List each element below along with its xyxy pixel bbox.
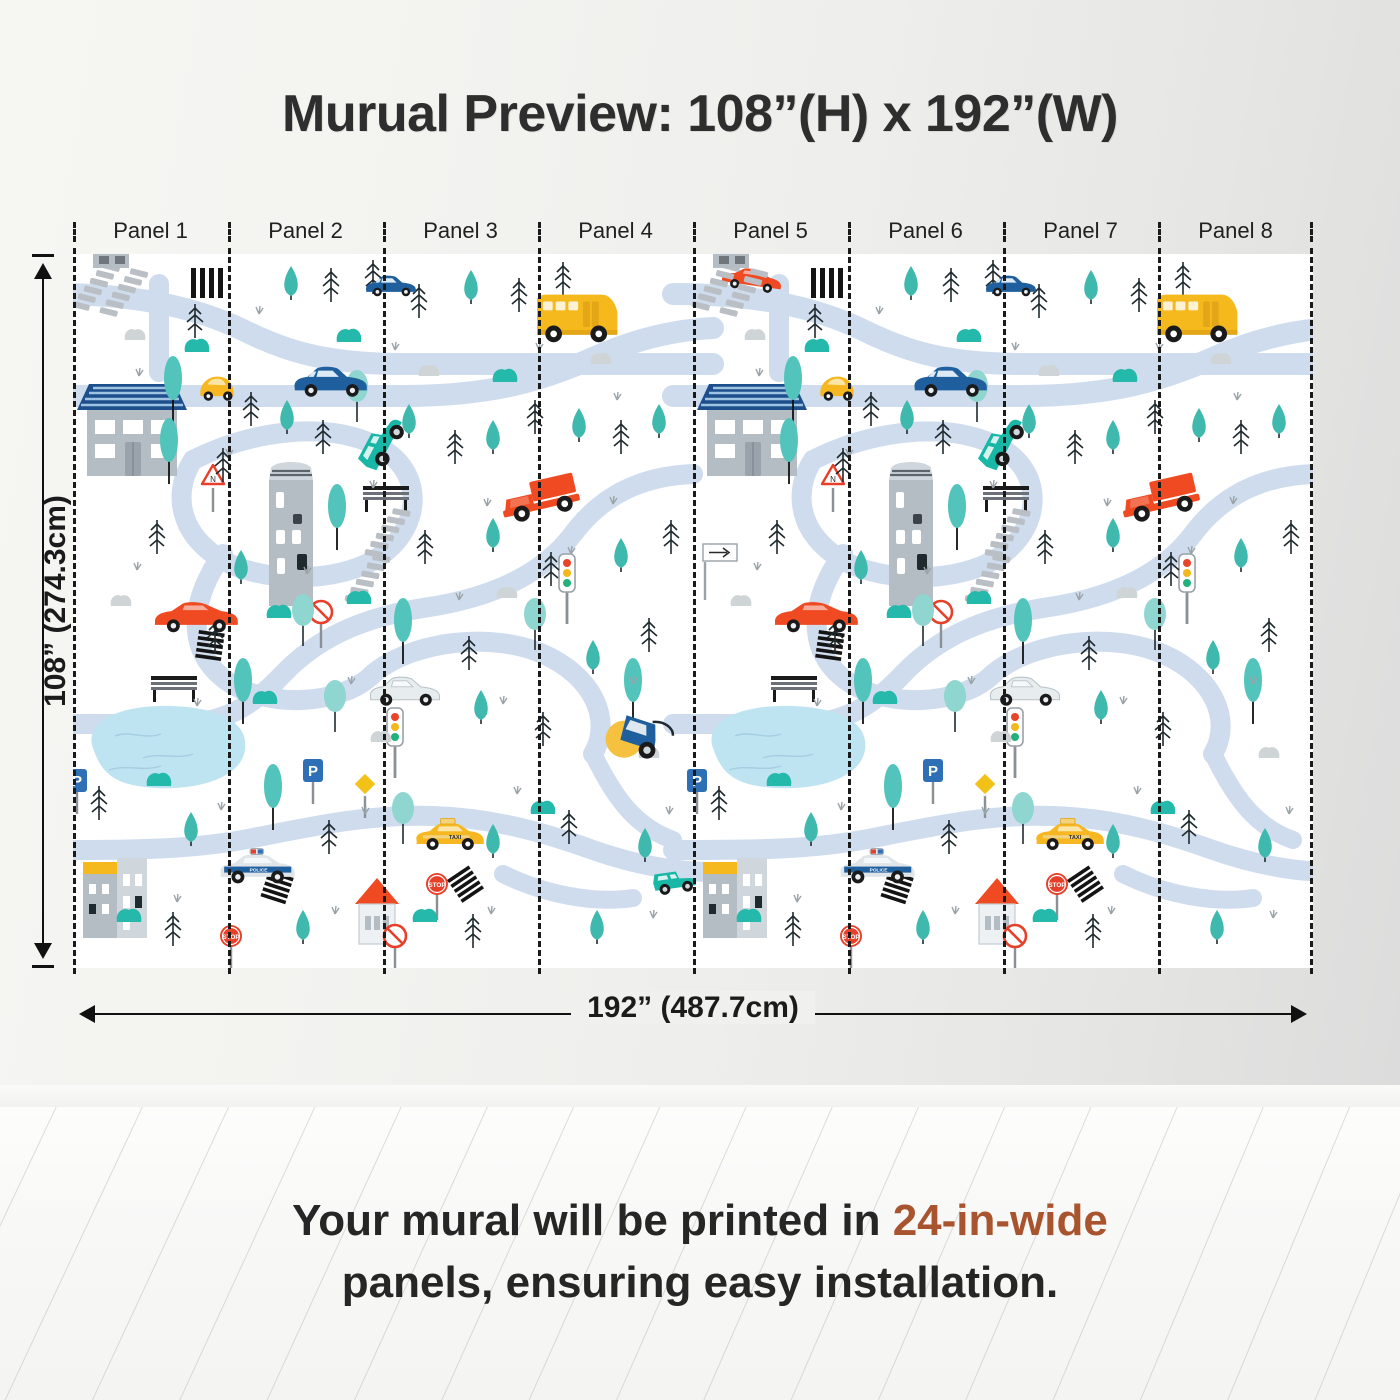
height-arrow-up [34,263,52,279]
width-label: 192” (487.7cm) [571,991,815,1024]
height-dimension: 108” (274.3cm) [28,254,58,968]
footer-caption: Your mural will be printed in 24-in-wide… [0,1190,1400,1314]
panel-label-7: Panel 7 [1003,216,1158,250]
mural-preview-page: Murual Preview: 108”(H) x 192”(W) Panel … [0,0,1400,1400]
mural-canvas: STOP N [73,254,1313,968]
panel-label-4: Panel 4 [538,216,693,250]
caption-prefix: Your mural will be printed in [292,1196,893,1245]
height-arrow-down [34,943,52,959]
panel-label-row: Panel 1Panel 2Panel 3Panel 4Panel 5Panel… [73,216,1313,250]
panel-label-3: Panel 3 [383,216,538,250]
height-cap-bottom [32,965,54,968]
mural-illustration: STOP N [73,254,1313,968]
panel-label-2: Panel 2 [228,216,383,250]
panel-label-1: Panel 1 [73,216,228,250]
caption-line-2: panels, ensuring easy installation. [0,1252,1400,1314]
height-label: 108” (274.3cm) [39,321,73,881]
caption-highlight: 24-in-wide [893,1196,1108,1245]
mural-artwork: STOP N [73,254,1313,968]
width-label-wrap: 192” (487.7cm) [73,991,1313,1025]
width-dimension: 192” (487.7cm) [73,1000,1313,1028]
panel-label-5: Panel 5 [693,216,848,250]
page-title: Murual Preview: 108”(H) x 192”(W) [0,84,1400,144]
panel-label-6: Panel 6 [848,216,1003,250]
caption-line-1: Your mural will be printed in 24-in-wide [0,1190,1400,1252]
panel-label-8: Panel 8 [1158,216,1313,250]
height-cap-top [32,254,54,257]
wall-baseboard [0,1085,1400,1107]
